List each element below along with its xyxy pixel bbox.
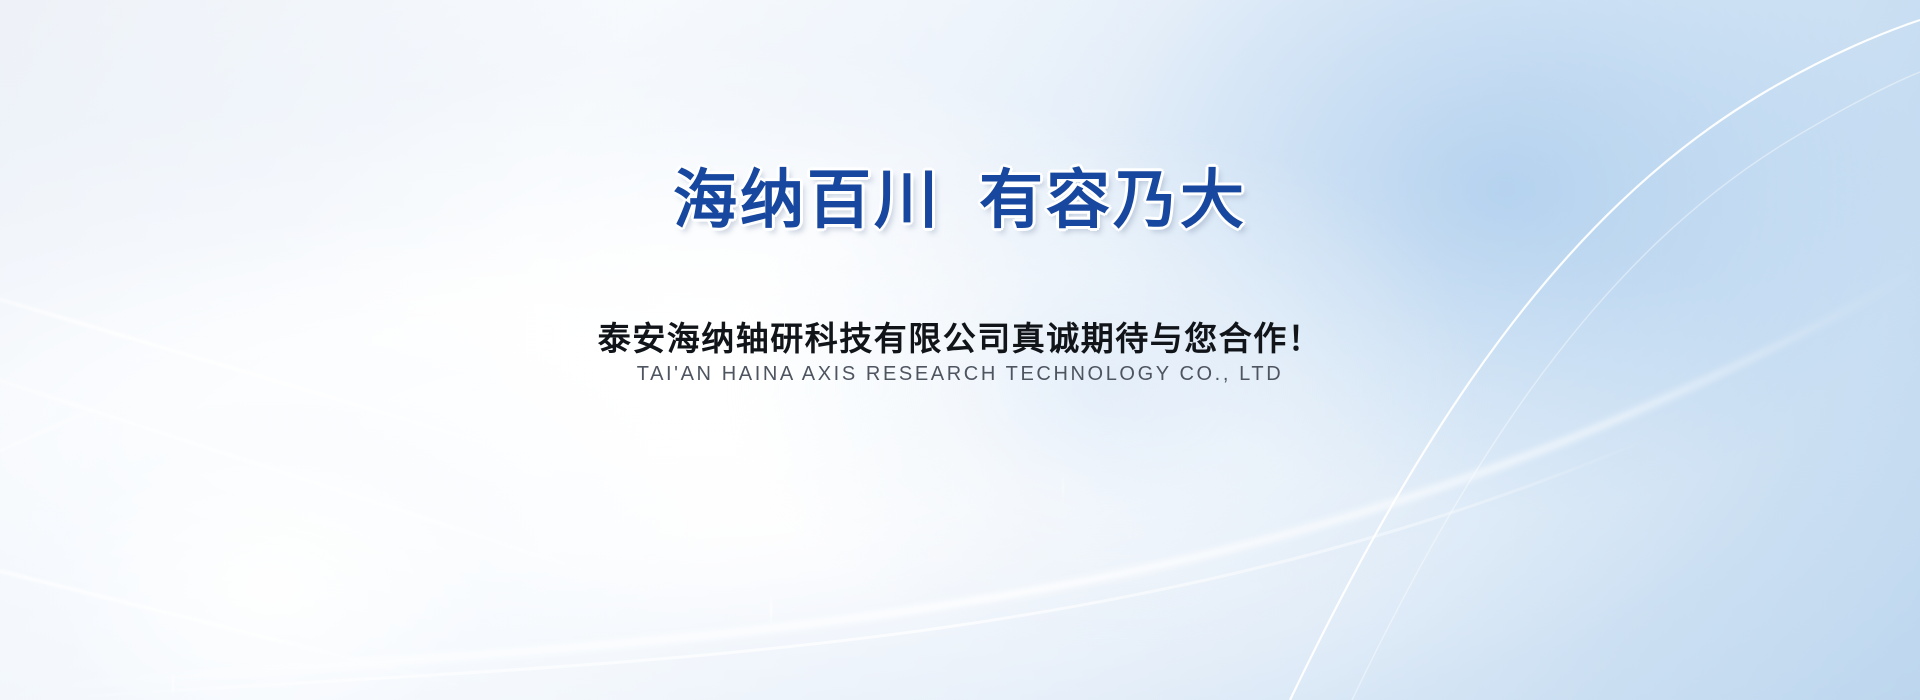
blue-corner-glow [930, 0, 1920, 640]
light-streak [0, 537, 471, 690]
bottom-sweep-curve-icon [0, 0, 1920, 700]
background-decoration-layer [0, 0, 1920, 700]
headline-part-1: 海纳百川 [673, 164, 941, 238]
banner-subtitle-chinese: 泰安海纳轴研科技有限公司真诚期待与您合作！ [0, 312, 1920, 360]
mid-haze-cloud [730, 126, 1490, 646]
banner-subtitle-english: TAI'AN HAINA AXIS RESEARCH TECHNOLOGY CO… [0, 363, 1920, 386]
banner-headline: 海纳百川有容乃大 [0, 168, 1920, 235]
headline-part-2: 有容乃大 [979, 164, 1247, 238]
light-streak [0, 347, 232, 520]
light-streak [0, 267, 605, 480]
hero-banner: 海纳百川有容乃大 泰安海纳轴研科技有限公司真诚期待与您合作！ TAI'AN HA… [0, 0, 1920, 700]
light-glint [1062, 470, 1064, 504]
center-bloom-glow [230, 28, 1210, 648]
light-streak [0, 337, 689, 606]
banner-content: 海纳百川有容乃大 泰安海纳轴研科技有限公司真诚期待与您合作！ TAI'AN HA… [0, 0, 1920, 700]
light-glint [172, 672, 174, 698]
light-glint [770, 590, 772, 630]
arc-curve-icon [0, 0, 1920, 700]
lower-left-haze [0, 280, 720, 700]
